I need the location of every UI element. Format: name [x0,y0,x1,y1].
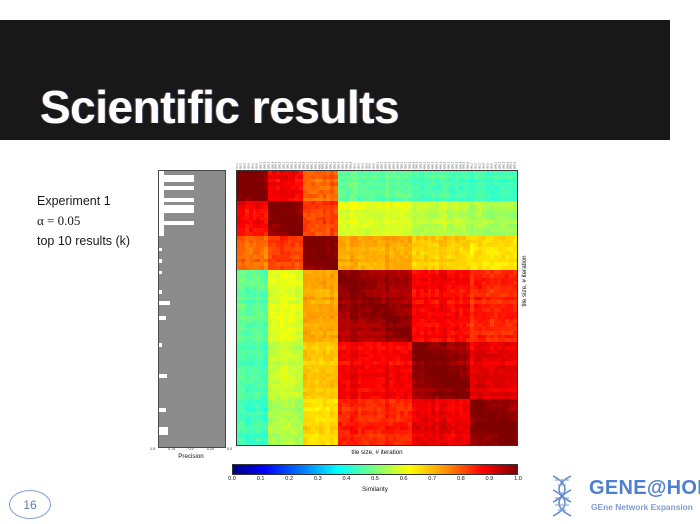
heatmap-column-tick: 8000,2 [452,161,455,169]
heatmap-column-tick: 4000,2 [311,161,314,169]
heatmap-column-tick: 2000,1 [401,161,404,169]
heatmap-column-tick: 2000,2 [405,161,408,169]
slide-canvas: Scientific results Experiment 1 α = 0.05… [0,0,700,524]
precision-barchart [158,170,226,448]
heatmap-column-tick: 8000,3 [456,161,459,169]
colorbar-tick-label: 0.2 [285,476,293,482]
colorbar-ticks: 0.00.10.20.30.40.50.60.70.80.91.0 [232,476,518,486]
similarity-heatmap [236,170,518,446]
colorbar-gradient [232,464,518,475]
heatmap-column-tick: 4000,3 [315,161,318,169]
colorbar-tick-label: 0.0 [228,476,236,482]
precision-tick-label: 0.75 [168,447,175,451]
colorbar-panel: 0.00.10.20.30.40.50.60.70.80.91.0 Simila… [232,464,518,493]
heatmap-column-tick: 4000,1 [307,161,310,169]
precision-tick-label: 0.0 [227,447,232,451]
heatmap-column-labels: 500,1500,2500,3500,4500,5500,61000,11000… [236,148,518,169]
heatmap-y-axis-label: tile size, # iteration [521,255,528,306]
logo-wordmark: GENE@HOME [589,477,700,500]
heatmap-column-tick: 1000,3 [268,161,271,169]
page-number-badge: 16 [9,490,51,519]
heatmap-plot-area [236,170,518,446]
logo-tagline: GEne Network Expansion [591,502,693,512]
heatmap-column-tick: 8000,1 [448,161,451,169]
precision-axis-ticks: 1.00.750.50.250.0 [150,447,232,451]
title-band: Scientific results [0,20,670,140]
heatmap-column-tick: 1000,1 [260,161,263,169]
dna-helix-icon [545,474,587,518]
heatmap-column-tick: 500,2 [358,163,361,169]
precision-axis-label: Precision [158,453,224,460]
colorbar-tick-label: 0.5 [371,476,379,482]
heatmap-column-tick: 1000,6 [515,161,518,169]
heatmap-column-tick: 2000,3 [409,161,412,169]
heatmap-column-tick: 1000,2 [264,161,267,169]
heatmap-x-axis-label: tile size, # iteration [236,449,518,456]
heatmap-column-tick: 500,3 [362,163,365,169]
figure-panel: 1.00.750.50.250.0 Precision 500,1500,250… [140,146,540,496]
colorbar-tick-label: 0.4 [343,476,351,482]
colorbar-tick-label: 0.3 [314,476,322,482]
heatmap-column-tick: 1000,3 [503,161,506,169]
colorbar-tick-label: 0.7 [428,476,436,482]
colorbar-tick-label: 0.8 [457,476,465,482]
page-title: Scientific results [40,84,399,130]
colorbar-tick-label: 0.6 [400,476,408,482]
heatmap-column-tick: 500,1 [354,163,357,169]
colorbar-tick-label: 1.0 [514,476,522,482]
heatmap-column-tick: 1000,2 [499,161,502,169]
colorbar-label: Similarity [232,486,518,493]
precision-tick-label: 0.25 [207,447,214,451]
gene-at-home-logo: GENE@HOME GEne Network Expansion [545,472,695,520]
colorbar-tick-label: 0.1 [257,476,265,482]
precision-tick-label: 1.0 [150,447,155,451]
colorbar-tick-label: 0.9 [486,476,494,482]
precision-tick-label: 0.5 [189,447,194,451]
heatmap-column-tick: 1000,1 [495,161,498,169]
